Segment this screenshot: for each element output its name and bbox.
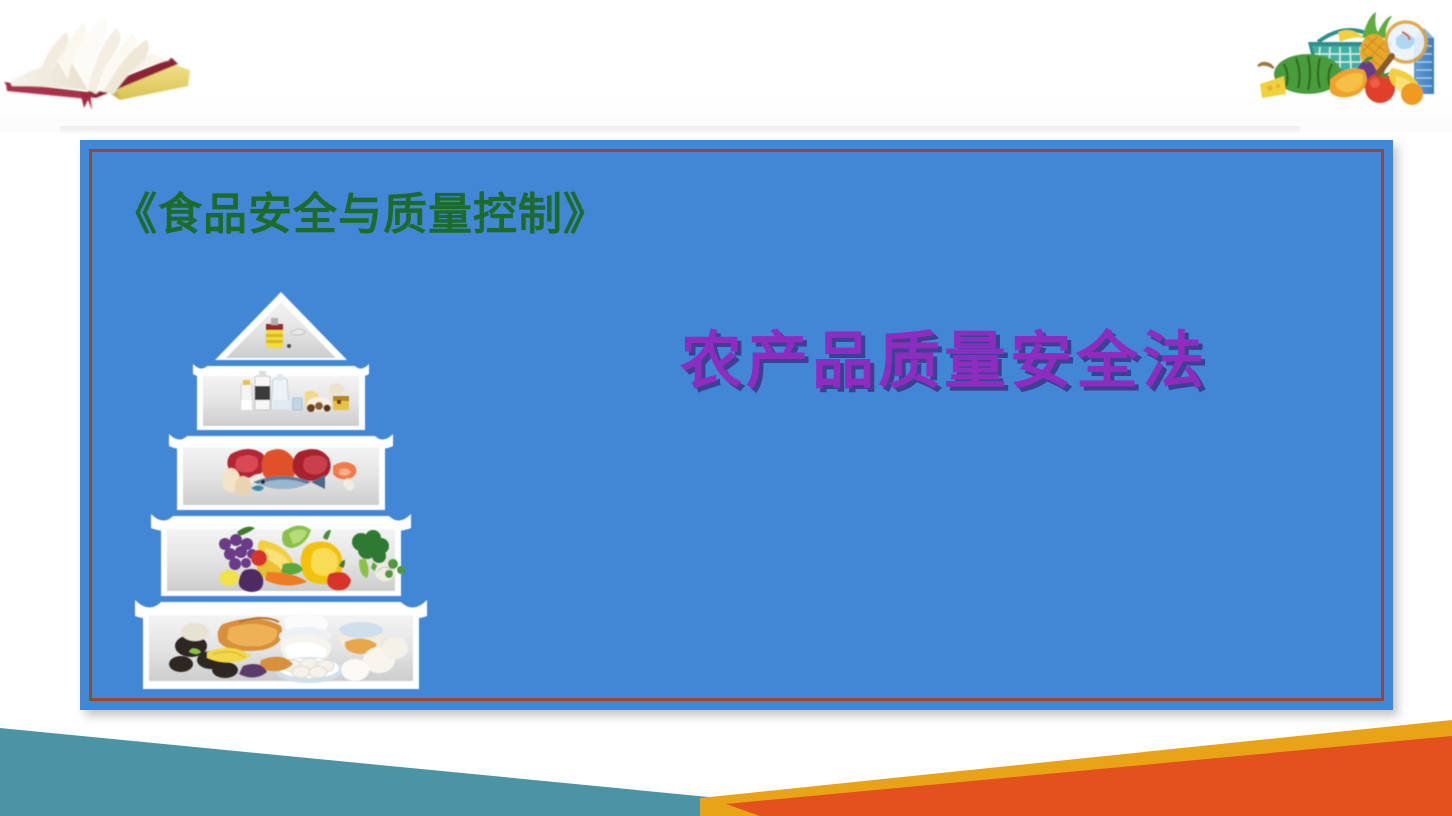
deco-red-shape [726, 736, 1452, 816]
course-title: 《食品安全与质量控制》 [113, 191, 608, 239]
deco-teal-shape [0, 728, 760, 816]
bottom-decoration [0, 706, 1452, 816]
chinese-dietary-pagoda-image [133, 288, 430, 692]
header-band [0, 0, 1452, 132]
main-heading: 农产品质量安全法 [680, 328, 1208, 396]
slide-canvas: 《食品安全与质量控制》 农产品质量安全法 [0, 0, 1452, 816]
header-band-shadow [60, 126, 1300, 136]
